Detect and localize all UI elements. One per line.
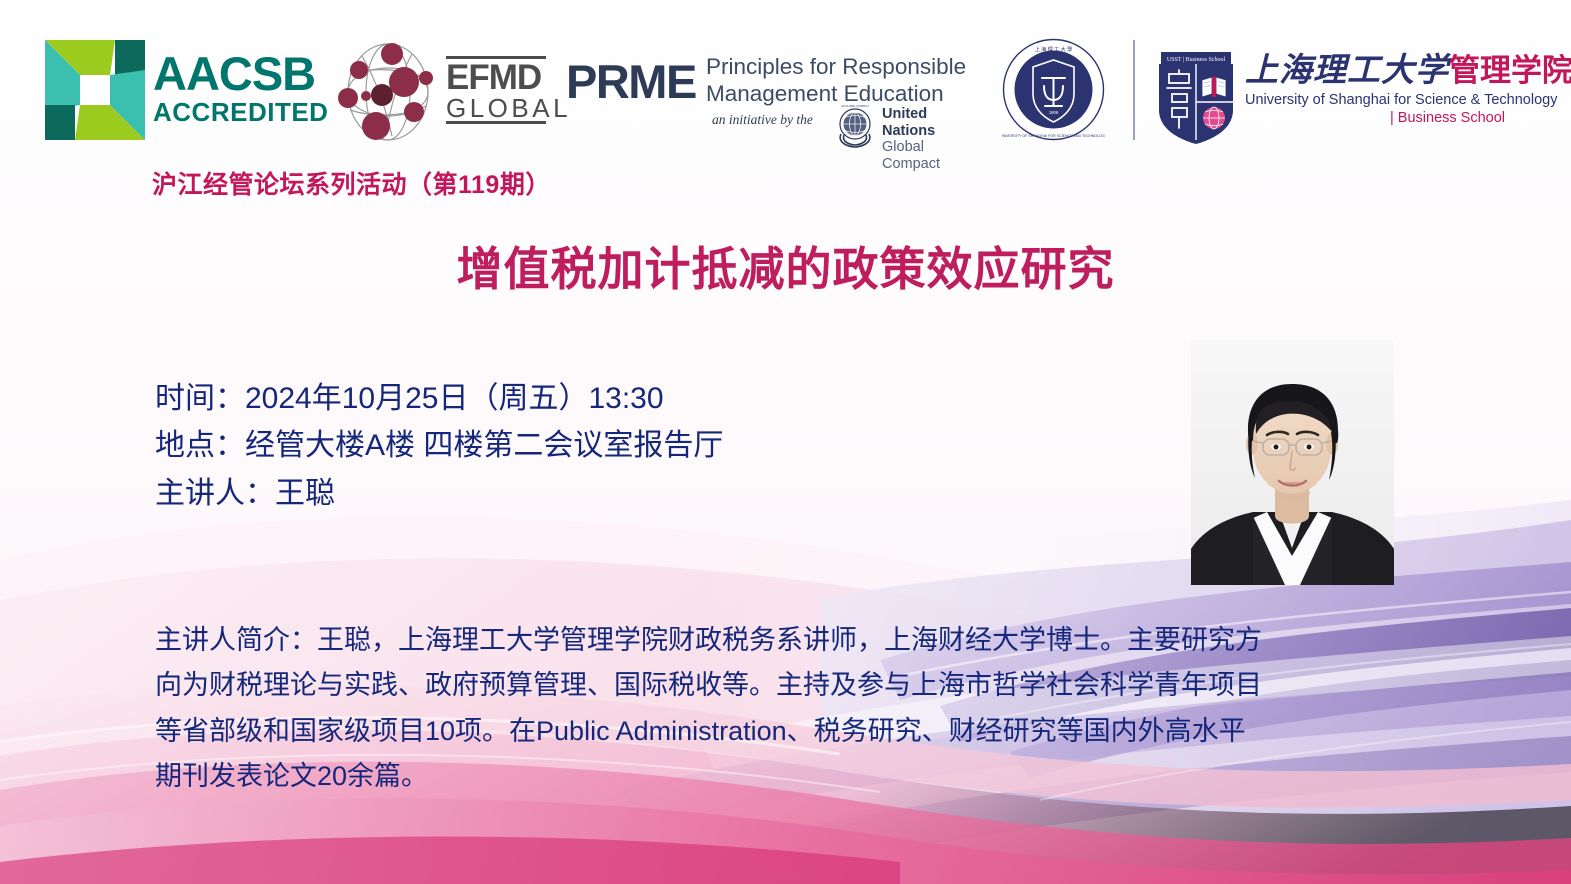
usst-university-crest-icon: 1906 上 海 理 工 大 學 UNIVERSITY OF SHANGHAI … bbox=[1002, 38, 1105, 141]
talk-title: 增值税加计抵减的政策效应研究 bbox=[0, 233, 1571, 299]
bio-line-2: 向为财税理论与实践、政府预算管理、国际税收等。主持及参与上海市哲学社会科学青年项… bbox=[155, 663, 1405, 708]
svg-text:UN GLOBAL COMPACT: UN GLOBAL COMPACT bbox=[841, 104, 870, 108]
efmd-globe-network-icon bbox=[334, 40, 442, 144]
prme-tagline: Principles for Responsible Management Ed… bbox=[706, 54, 976, 107]
detail-speaker: 主讲人：王聪 bbox=[155, 470, 915, 517]
university-name-cn: 上海理工大学 bbox=[1245, 53, 1449, 89]
speaker-portrait bbox=[1191, 340, 1394, 585]
efmd-logo: EFMD GLOBAL bbox=[334, 38, 549, 146]
efmd-wordmark: EFMD GLOBAL bbox=[446, 56, 546, 124]
un-line-2: Global Compact bbox=[882, 139, 982, 172]
accreditation-logo-strip: AACSB ACCREDITED bbox=[0, 0, 1571, 160]
un-global-compact-wordmark: United Nations Global Compact bbox=[882, 106, 982, 173]
efmd-name: EFMD bbox=[446, 59, 546, 95]
bio-line-1: 主讲人简介：王聪，上海理工大学管理学院财政税务系讲师，上海财经大学博士。主要研究… bbox=[155, 618, 1405, 663]
un-line-1: United Nations bbox=[882, 106, 982, 139]
efmd-subtitle: GLOBAL bbox=[446, 95, 546, 121]
un-global-compact-globe-icon: UN GLOBAL COMPACT bbox=[831, 102, 879, 150]
usst-business-school-wordmark: 上海理工大学管理学院 University of Shanghai for Sc… bbox=[1245, 55, 1505, 127]
svg-text:1906: 1906 bbox=[1049, 110, 1059, 115]
school-name-chinese: 上海理工大学管理学院 bbox=[1245, 55, 1505, 88]
speaker-portrait-image bbox=[1191, 340, 1394, 585]
shield-banner-text: USST | Business School bbox=[1167, 57, 1226, 63]
forum-series-label: 沪江经管论坛系列活动（第119期） bbox=[152, 165, 551, 201]
event-poster: AACSB ACCREDITED bbox=[0, 0, 1571, 884]
university-name-english: University of Shanghai for Science & Tec… bbox=[1245, 91, 1505, 109]
usst-business-school-shield-icon: USST | Business School bbox=[1155, 52, 1237, 145]
speaker-bio: 主讲人简介：王聪，上海理工大学管理学院财政税务系讲师，上海财经大学博士。主要研究… bbox=[155, 618, 1405, 799]
school-name-cn: 管理学院 bbox=[1449, 53, 1571, 88]
bio-line-3: 等省部级和国家级项目10项。在Public Administration、税务研… bbox=[155, 709, 1405, 754]
aacsb-logo: AACSB ACCREDITED bbox=[45, 40, 145, 140]
bio-line-4: 期刊发表论文20余篇。 bbox=[155, 754, 1405, 799]
svg-text:上 海 理 工 大 學: 上 海 理 工 大 學 bbox=[1035, 45, 1073, 53]
school-name-english: | Business School bbox=[1245, 109, 1505, 127]
svg-text:UNIVERSITY OF SHANGHAI FOR SCI: UNIVERSITY OF SHANGHAI FOR SCIENCE AND T… bbox=[1002, 134, 1105, 138]
prme-initiative-text: an initiative by the bbox=[712, 112, 813, 128]
prme-logo: PRME Principles for Responsible Manageme… bbox=[566, 48, 976, 152]
event-details: 时间：2024年10月25日（周五）13:30 地点：经管大楼A楼 四楼第二会议… bbox=[155, 375, 915, 517]
detail-time: 时间：2024年10月25日（周五）13:30 bbox=[155, 375, 915, 422]
detail-venue: 地点：经管大楼A楼 四楼第二会议室报告厅 bbox=[155, 422, 915, 469]
logo-divider bbox=[1133, 40, 1135, 140]
aacsb-pinwheel-icon bbox=[45, 40, 145, 140]
prme-wordmark: PRME bbox=[566, 54, 696, 109]
